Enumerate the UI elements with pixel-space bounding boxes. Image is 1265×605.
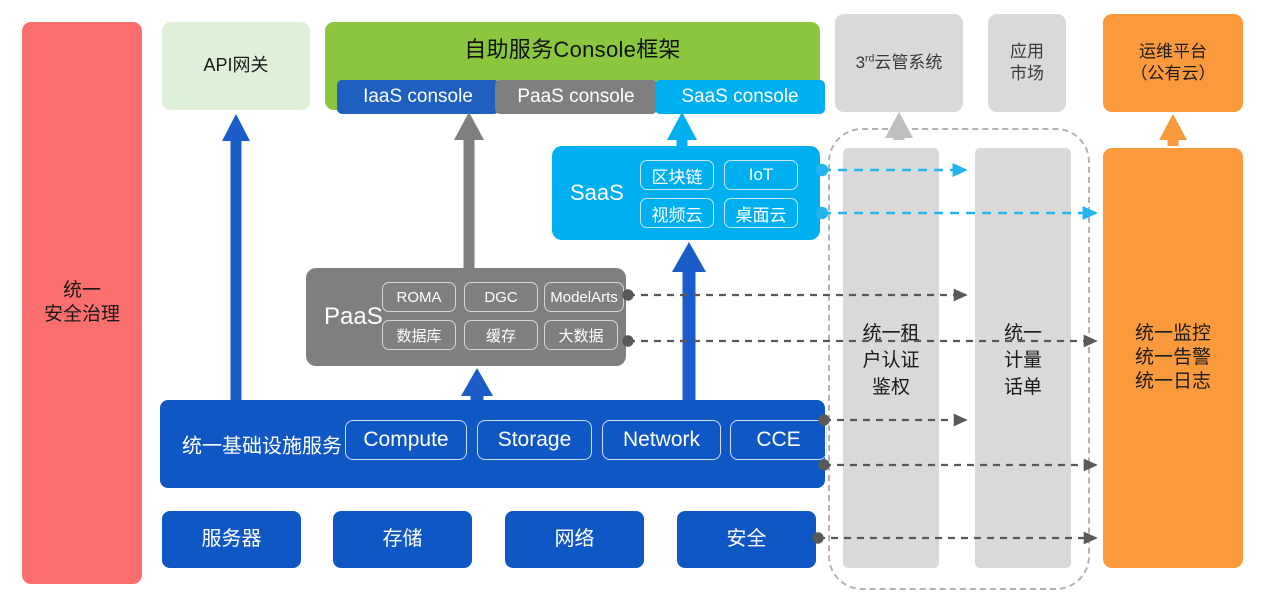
console-chip-row: IaaS console PaaS console SaaS console	[325, 80, 820, 114]
saas-label: SaaS	[570, 180, 624, 206]
unified-security-label: 统一 安全治理	[44, 279, 120, 328]
metering-line3: 话单	[1004, 372, 1042, 399]
tenant-auth-line3: 鉴权	[872, 372, 910, 399]
unified-metering-label: 统一 计量 话单	[1004, 318, 1042, 399]
app-market-box[interactable]: 应用 市场	[988, 14, 1066, 112]
saas-chip-desktop-cloud[interactable]: 桌面云	[724, 198, 798, 228]
paas-chip-cache[interactable]: 缓存	[464, 320, 538, 350]
saas-chip-blockchain[interactable]: 区块链	[640, 160, 714, 190]
architecture-diagram: 统一 安全治理 API网关 自助服务Console框架 IaaS console…	[0, 0, 1265, 605]
ops-pillar-line3: 统一日志	[1135, 370, 1211, 394]
saas-chip-iot[interactable]: IoT	[724, 160, 798, 190]
ops-pillar-line1: 统一监控	[1135, 322, 1211, 346]
api-gateway-box[interactable]: API网关	[162, 22, 310, 110]
console-frame-box: 自助服务Console框架 IaaS console PaaS console …	[325, 22, 820, 110]
paas-label: PaaS	[324, 303, 383, 331]
paas-chip-modelarts[interactable]: ModelArts	[544, 282, 624, 312]
arrow-iaas-to-api-gateway	[222, 114, 250, 400]
arrow-paas-to-console	[454, 112, 484, 268]
tenant-auth-line2: 户认证	[862, 345, 919, 372]
resource-box-network[interactable]: 网络	[505, 511, 644, 568]
ops-platform-box[interactable]: 运维平台 （公有云）	[1103, 14, 1243, 112]
api-gateway-label: API网关	[203, 54, 268, 77]
iaas-chip-storage[interactable]: Storage	[477, 420, 592, 460]
arrow-iaas-to-saas	[672, 242, 706, 400]
metering-line1: 统一	[1004, 318, 1042, 345]
app-market-line2: 市场	[1010, 63, 1044, 85]
app-market-label: 应用 市场	[1010, 41, 1044, 85]
unified-security-line2: 安全治理	[44, 303, 120, 327]
third-party-cloud-label: 3rd云管系统	[856, 52, 943, 74]
third-party-cloud-box[interactable]: 3rd云管系统	[835, 14, 963, 112]
arrow-to-ops-platform	[1159, 114, 1187, 146]
saas-box: SaaS 区块链 IoT 视频云 桌面云	[552, 146, 820, 240]
resource-box-server[interactable]: 服务器	[162, 511, 301, 568]
ops-pillar-label: 统一监控 统一告警 统一日志	[1135, 322, 1211, 395]
unified-metering-column[interactable]: 统一 计量 话单	[975, 148, 1071, 568]
iaas-chip-network[interactable]: Network	[602, 420, 721, 460]
third-party-suffix: 云管系统	[874, 53, 942, 72]
resource-box-storage[interactable]: 存储	[333, 511, 472, 568]
paas-chip-bigdata[interactable]: 大数据	[544, 320, 618, 350]
arrow-iaas-to-paas	[461, 368, 493, 400]
paas-console-chip[interactable]: PaaS console	[495, 80, 657, 114]
console-frame-title: 自助服务Console框架	[464, 36, 681, 64]
resource-label-storage: 存储	[383, 527, 423, 553]
ops-platform-label: 运维平台 （公有云）	[1131, 41, 1216, 85]
unified-security-line1: 统一	[63, 279, 101, 303]
paas-chip-database[interactable]: 数据库	[382, 320, 456, 350]
saas-console-chip[interactable]: SaaS console	[655, 80, 825, 114]
arrow-saas-to-console	[667, 112, 697, 146]
iaas-chip-compute[interactable]: Compute	[345, 420, 467, 460]
unified-security-pillar: 统一 安全治理	[22, 22, 142, 584]
resource-label-network: 网络	[555, 527, 595, 553]
resource-box-security[interactable]: 安全	[677, 511, 816, 568]
resource-label-security: 安全	[727, 527, 767, 553]
third-party-prefix: 3	[856, 53, 865, 72]
iaas-label: 统一基础设施服务	[182, 430, 342, 459]
saas-chip-video-cloud[interactable]: 视频云	[640, 198, 714, 228]
tenant-auth-line1: 统一租	[862, 318, 919, 345]
resource-label-server: 服务器	[202, 527, 262, 553]
iaas-bar: 统一基础设施服务 Compute Storage Network CCE	[160, 400, 825, 488]
paas-chip-roma[interactable]: ROMA	[382, 282, 456, 312]
iaas-chip-cce[interactable]: CCE	[730, 420, 827, 460]
paas-chip-dgc[interactable]: DGC	[464, 282, 538, 312]
app-market-line1: 应用	[1010, 41, 1044, 63]
unified-tenant-auth-column[interactable]: 统一租 户认证 鉴权	[843, 148, 939, 568]
ops-platform-line2: （公有云）	[1131, 63, 1216, 85]
ops-platform-line1: 运维平台	[1139, 41, 1207, 63]
unified-tenant-auth-label: 统一租 户认证 鉴权	[862, 318, 919, 399]
paas-box: PaaS ROMA DGC ModelArts 数据库 缓存 大数据	[306, 268, 626, 366]
ops-pillar-line2: 统一告警	[1135, 346, 1211, 370]
iaas-console-chip[interactable]: IaaS console	[337, 80, 499, 114]
ops-monitoring-pillar: 统一监控 统一告警 统一日志	[1103, 148, 1243, 568]
metering-line2: 计量	[1004, 345, 1042, 372]
